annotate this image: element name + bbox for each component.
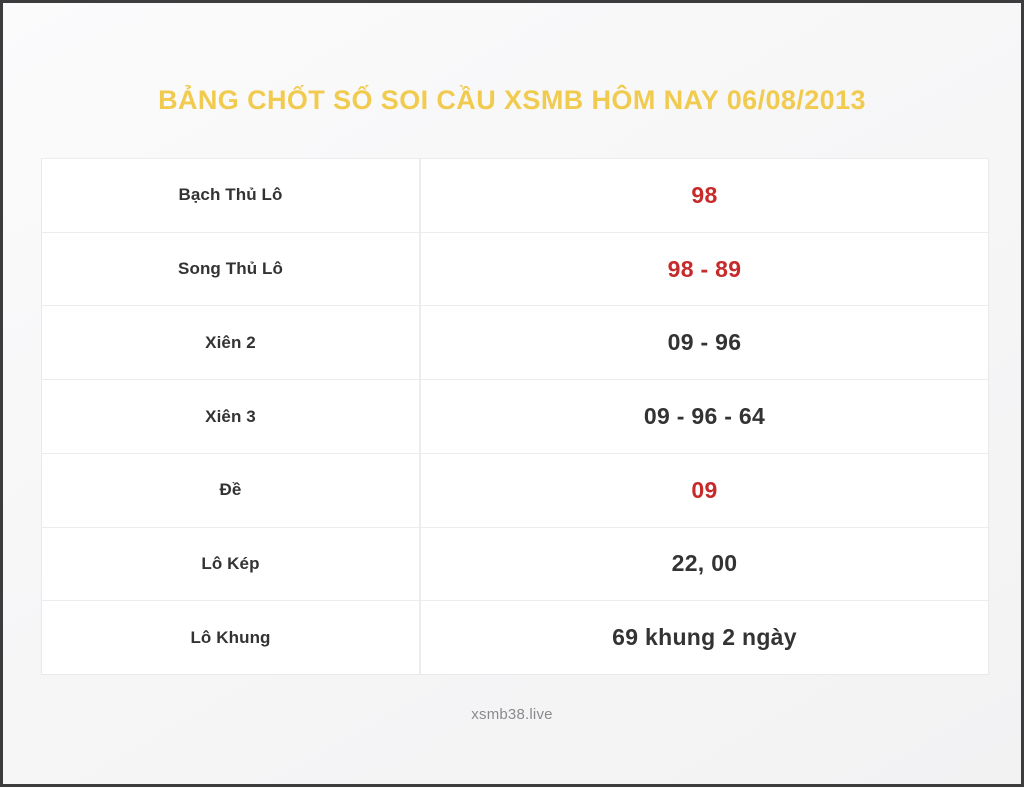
row-value: 69 khung 2 ngày <box>421 601 988 674</box>
row-value: 09 - 96 <box>421 306 988 379</box>
row-label: Đề <box>42 454 421 527</box>
row-value: 98 <box>421 159 988 232</box>
table-row: Bạch Thủ Lô98 <box>42 159 988 233</box>
row-label: Lô Khung <box>42 601 421 674</box>
table-row: Đề09 <box>42 454 988 528</box>
row-label: Xiên 3 <box>42 380 421 453</box>
row-label: Xiên 2 <box>42 306 421 379</box>
row-value: 09 <box>421 454 988 527</box>
table-row: Song Thủ Lô98 - 89 <box>42 233 988 307</box>
page-title: BẢNG CHỐT SỐ SOI CẦU XSMB HÔM NAY 06/08/… <box>3 82 1021 118</box>
row-value: 09 - 96 - 64 <box>421 380 988 453</box>
row-label: Song Thủ Lô <box>42 233 421 306</box>
table-row: Xiên 209 - 96 <box>42 306 988 380</box>
row-label: Lô Kép <box>42 528 421 601</box>
prediction-table: Bạch Thủ Lô98Song Thủ Lô98 - 89Xiên 209 … <box>41 158 989 675</box>
row-value: 98 - 89 <box>421 233 988 306</box>
table-row: Lô Kép22, 00 <box>42 528 988 602</box>
row-value: 22, 00 <box>421 528 988 601</box>
lottery-prediction-card: BẢNG CHỐT SỐ SOI CẦU XSMB HÔM NAY 06/08/… <box>3 3 1021 784</box>
row-label: Bạch Thủ Lô <box>42 159 421 232</box>
footer-site-label: xsmb38.live <box>3 706 1021 723</box>
page-frame: BẢNG CHỐT SỐ SOI CẦU XSMB HÔM NAY 06/08/… <box>0 0 1024 787</box>
table-row: Xiên 309 - 96 - 64 <box>42 380 988 454</box>
table-row: Lô Khung69 khung 2 ngày <box>42 601 988 674</box>
